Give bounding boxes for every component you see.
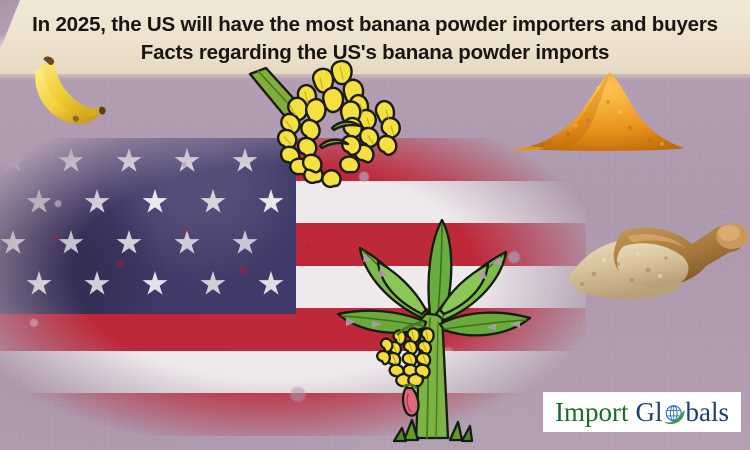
flag-paint-splatter [20,206,380,286]
illustration-banana-bunch [248,58,428,198]
globe-icon [662,403,687,428]
photo-banana-bunch [14,52,110,136]
brand-logo-text: ImportGl bals [555,399,729,426]
infographic-poster: In 2025, the US will have the most banan… [0,0,750,450]
brand-logo-bals: bals [686,399,730,426]
photo-turmeric-powder-pile [512,62,692,154]
brand-logo-import: Import [555,399,636,426]
photo-wooden-scoop-powder [566,186,750,310]
illustration-banana-tree [330,218,535,450]
brand-logo-gl: Gl [636,399,663,426]
page-title-line-1: In 2025, the US will have the most banan… [0,13,750,37]
brand-logo[interactable]: ImportGl bals [543,392,741,432]
